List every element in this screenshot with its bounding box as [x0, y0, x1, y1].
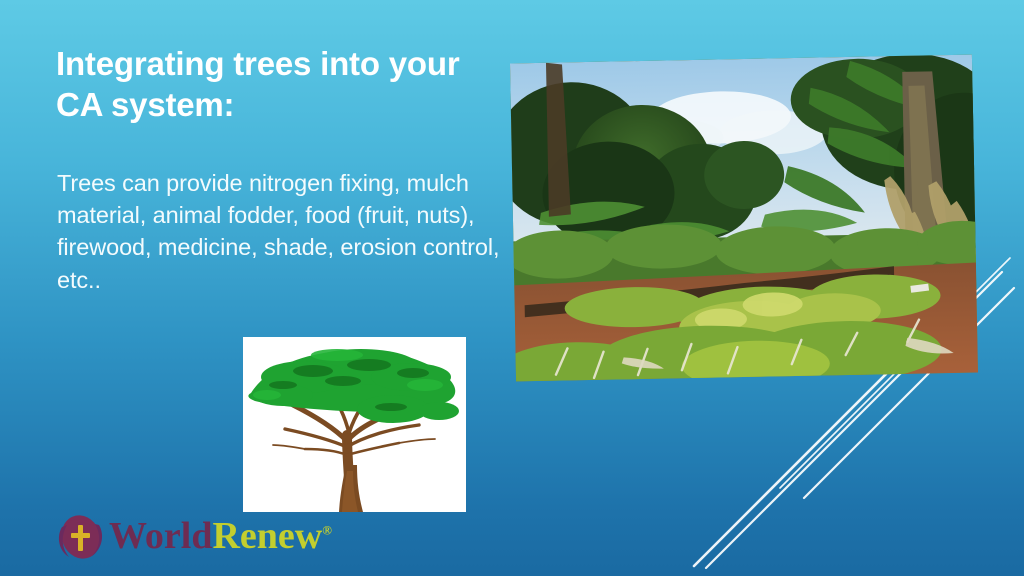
acacia-tree-clipart [243, 337, 466, 512]
title-block: Integrating trees into your CA system: [56, 44, 496, 126]
logo-word-world: World [109, 515, 212, 557]
body-block: Trees can provide nitrogen fixing, mulch… [57, 167, 507, 296]
slide-title: Integrating trees into your CA system: [56, 44, 496, 126]
logo-word-renew: Renew [212, 515, 322, 557]
agroforestry-photo [510, 55, 978, 382]
world-renew-emblem-icon [55, 513, 107, 561]
slide-body-text: Trees can provide nitrogen fixing, mulch… [57, 167, 507, 296]
presentation-slide: Integrating trees into your CA system: T… [0, 0, 1024, 576]
world-renew-logo: WorldRenew® [55, 512, 332, 562]
logo-wordmark: WorldRenew® [109, 517, 332, 555]
logo-trademark: ® [322, 522, 332, 537]
